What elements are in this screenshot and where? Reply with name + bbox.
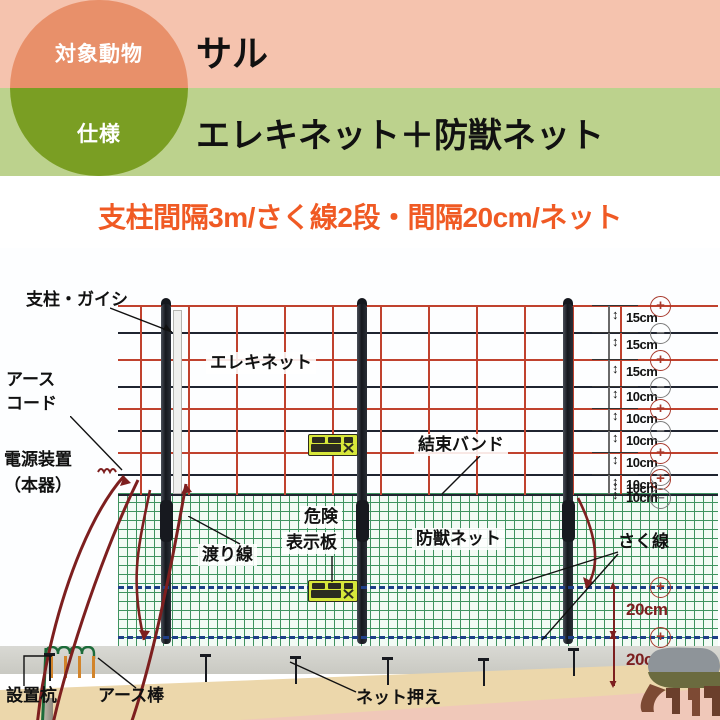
installation-diagram: ↕ 15cm + ↕ 15cm – ↕ 15cm + ↕ 10cm – ↕ 10… [0, 248, 720, 720]
header-spec-value: エレキネット＋防獣ネット [196, 108, 604, 157]
leader-danger-sign [326, 556, 338, 584]
leader-earth-rod [96, 654, 144, 690]
leader-binding-band [440, 456, 488, 498]
monkey-silhouette [628, 628, 720, 720]
leader-fence-wire [500, 548, 622, 648]
leader-ground-stake [20, 646, 60, 688]
leader-post-insulator [110, 306, 180, 336]
header-spec-label: 仕様 [10, 118, 188, 148]
leader-earth-cord [70, 416, 130, 476]
net-anchor-pin [483, 658, 486, 686]
label-animal-net: 防獣ネット [412, 528, 505, 550]
label-eleki-net: エレキネット [206, 352, 316, 374]
header-animal-label: 対象動物 [10, 38, 188, 68]
label-fence-wire: さく線 [618, 532, 669, 552]
net-anchor-pin [205, 654, 208, 682]
label-binding-band: 結束バンド [414, 434, 508, 456]
label-net-anchor: ネット押え [356, 688, 441, 708]
label-ground-stake: 設置杭 [6, 686, 57, 706]
label-power-unit-line1: 電源装置 [4, 450, 72, 470]
label-danger-sign-line2: 表示板 [282, 532, 341, 554]
header-subtitle: 支柱間隔3m/さく線2段・間隔20cm/ネット [0, 196, 720, 236]
net-anchor-pin [573, 648, 576, 676]
header-animal-value: サル [196, 25, 268, 77]
leader-jumper-wire [188, 516, 248, 550]
label-earth-cord-line1: アース [6, 370, 55, 390]
label-danger-sign-line1: 危険 [300, 506, 342, 528]
net-anchor-pin [387, 657, 390, 685]
label-power-unit-line2: （本器） [4, 476, 72, 496]
screenshot-root: 対象動物 仕様 サル エレキネット＋防獣ネット 支柱間隔3m/さく線2段・間隔2… [0, 0, 720, 720]
label-earth-cord-line2: コード [6, 394, 57, 414]
leader-net-anchor [286, 658, 362, 696]
wiring-diagram [0, 248, 720, 720]
